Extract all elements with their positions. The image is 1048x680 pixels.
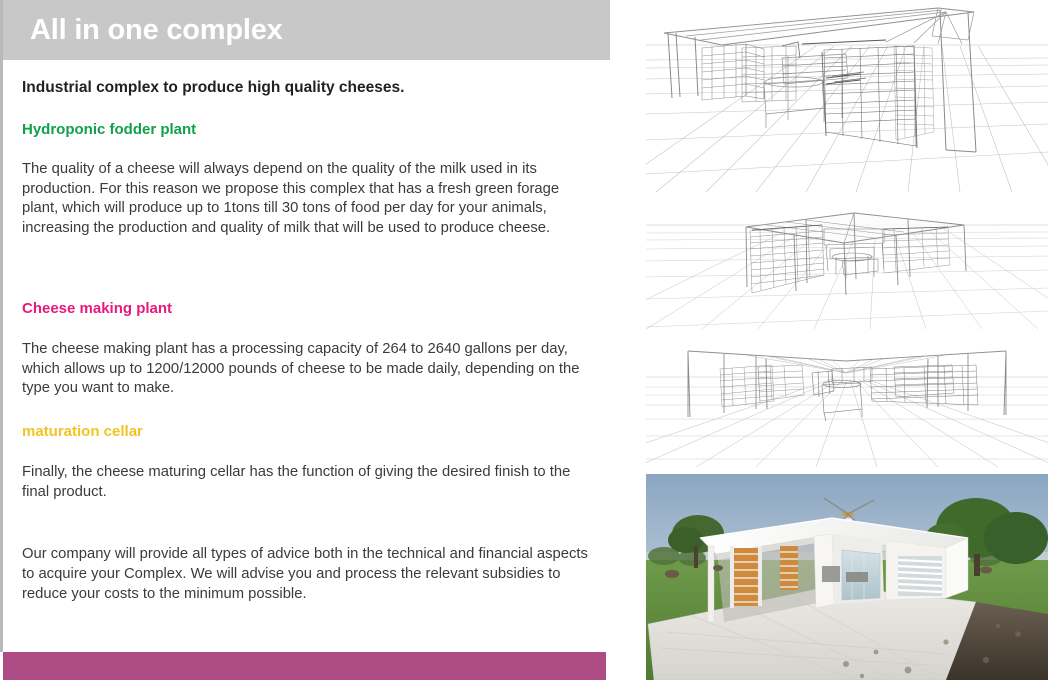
section-heading-cheese: Cheese making plant bbox=[22, 300, 588, 318]
figure-wireframe-interior-symmetric bbox=[646, 339, 1048, 467]
section-heading-maturation: maturation cellar bbox=[22, 423, 588, 441]
section-body-hydroponic: The quality of a cheese will always depe… bbox=[22, 160, 588, 239]
closing-paragraph: Our company will provide all types of ad… bbox=[22, 545, 588, 604]
section-body-maturation: Finally, the cheese maturing cellar has … bbox=[22, 463, 588, 502]
figure-wireframe-interior-racks bbox=[646, 0, 1048, 192]
section-body-cheese: The cheese making plant has a processing… bbox=[22, 340, 588, 399]
section-heading-hydroponic: Hydroponic fodder plant bbox=[22, 121, 588, 139]
slide-page: All in one complex Industrial complex to… bbox=[0, 0, 1048, 680]
left-text-column: All in one complex Industrial complex to… bbox=[0, 0, 612, 680]
figure-wireframe-exterior-aerial bbox=[646, 199, 1048, 329]
figure-column bbox=[646, 0, 1048, 680]
figure-photo-render-pavilion bbox=[646, 474, 1048, 680]
title-bar: All in one complex bbox=[3, 0, 610, 60]
bottom-accent-bar bbox=[3, 652, 606, 680]
content-body: Industrial complex to produce high quali… bbox=[3, 60, 610, 652]
lede-text: Industrial complex to produce high quali… bbox=[22, 78, 588, 98]
page-title: All in one complex bbox=[3, 16, 283, 45]
render-photo bbox=[646, 474, 1048, 680]
